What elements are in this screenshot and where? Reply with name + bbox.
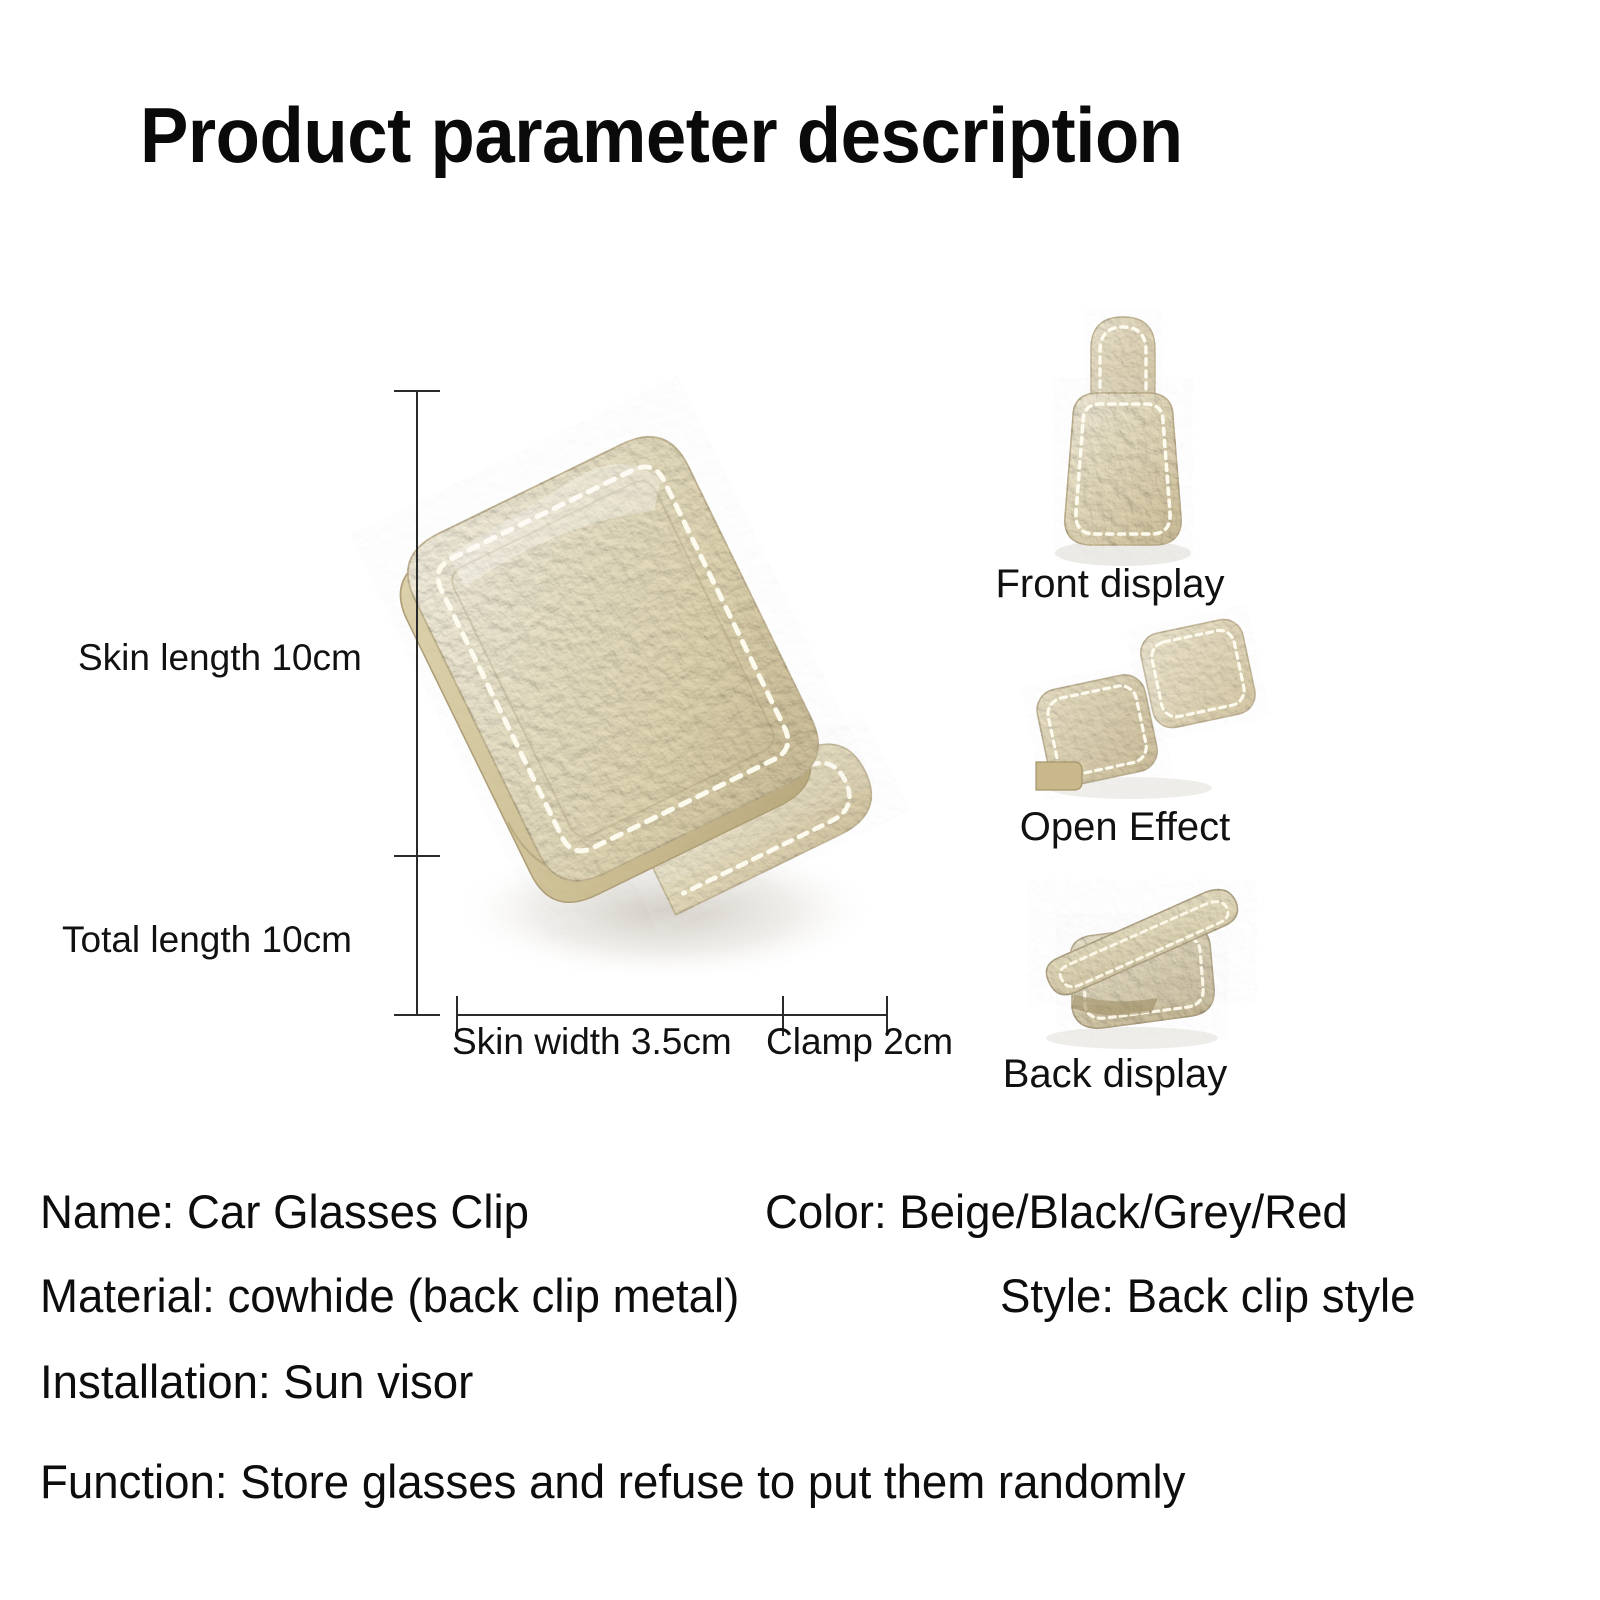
spec-color: Color: Beige/Black/Grey/Red bbox=[765, 1188, 1348, 1235]
skin-width-label: Skin width 3.5cm bbox=[452, 1022, 732, 1063]
skin-length-label: Skin length 10cm bbox=[78, 638, 362, 679]
page-title: Product parameter description bbox=[140, 96, 1368, 174]
dimension-tick-bottom bbox=[394, 1014, 440, 1016]
horizontal-dimension-line bbox=[456, 1014, 888, 1016]
spec-style: Style: Back clip style bbox=[1000, 1272, 1416, 1319]
dimension-tick-middle bbox=[394, 855, 440, 857]
open-effect-caption: Open Effect bbox=[1000, 805, 1250, 849]
product-parameter-page: Product parameter description bbox=[0, 0, 1600, 1600]
front-top-tab bbox=[1091, 317, 1155, 401]
total-length-label: Total length 10cm bbox=[62, 920, 352, 961]
open-effect-illustration bbox=[1000, 612, 1270, 802]
spec-installation: Installation: Sun visor bbox=[40, 1358, 473, 1405]
spec-name: Name: Car Glasses Clip bbox=[40, 1188, 529, 1235]
dimension-tick-top bbox=[394, 390, 440, 392]
front-display-caption: Front display bbox=[985, 562, 1235, 606]
main-product-illustration bbox=[415, 440, 915, 1000]
front-display-photo bbox=[1015, 305, 1230, 570]
open-effect-photo bbox=[1000, 612, 1270, 802]
front-body bbox=[1065, 393, 1181, 545]
back-shadow bbox=[1046, 1027, 1218, 1049]
back-display-illustration bbox=[1010, 866, 1260, 1051]
spec-function: Function: Store glasses and refuse to pu… bbox=[40, 1458, 1185, 1505]
vertical-dimension-line bbox=[416, 390, 418, 1016]
back-display-photo bbox=[1010, 866, 1260, 1051]
front-display-illustration bbox=[1015, 305, 1230, 570]
back-display-caption: Back display bbox=[990, 1052, 1240, 1096]
main-product-photo bbox=[415, 440, 915, 1000]
open-upper-flap bbox=[1137, 616, 1259, 732]
clamp-width-label: Clamp 2cm bbox=[766, 1022, 953, 1063]
open-back-clip bbox=[1036, 762, 1082, 790]
spec-material: Material: cowhide (back clip metal) bbox=[40, 1272, 739, 1319]
